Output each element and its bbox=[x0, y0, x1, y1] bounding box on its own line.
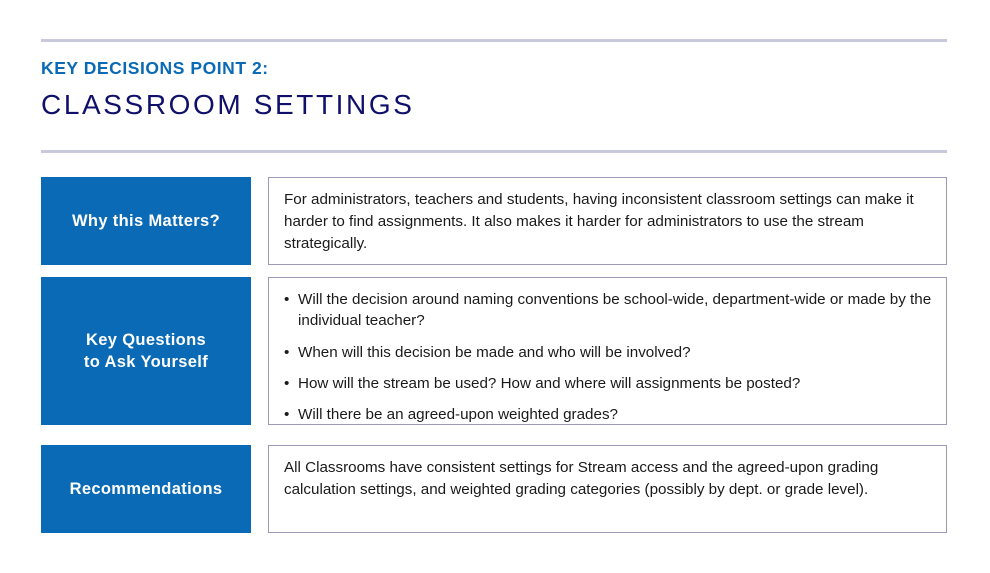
row-label-box: Why this Matters? bbox=[41, 177, 251, 265]
row-label-box: Recommendations bbox=[41, 445, 251, 533]
slide-page: KEY DECISIONS POINT 2: CLASSROOM SETTING… bbox=[0, 0, 990, 573]
header-divider-rule bbox=[41, 150, 947, 153]
row-why-this-matters: Why this Matters? For administrators, te… bbox=[41, 177, 947, 265]
row-label-text: Recommendations bbox=[70, 478, 223, 500]
row-content-box: Will the decision around naming conventi… bbox=[268, 277, 947, 425]
page-header: KEY DECISIONS POINT 2: CLASSROOM SETTING… bbox=[41, 58, 947, 122]
list-item: Will the decision around naming conventi… bbox=[284, 289, 932, 332]
row-key-questions: Key Questions to Ask Yourself Will the d… bbox=[41, 277, 947, 425]
top-divider-rule bbox=[41, 39, 947, 42]
row-label-text: Why this Matters? bbox=[72, 210, 220, 232]
row-content-box: For administrators, teachers and student… bbox=[268, 177, 947, 265]
list-item: Will there be an agreed-upon weighted gr… bbox=[284, 404, 932, 425]
eyebrow-label: KEY DECISIONS POINT 2: bbox=[41, 58, 947, 78]
row-paragraph: All Classrooms have consistent settings … bbox=[284, 457, 932, 501]
question-list: Will the decision around naming conventi… bbox=[284, 289, 932, 425]
list-item: When will this decision be made and who … bbox=[284, 342, 932, 363]
page-title: CLASSROOM SETTINGS bbox=[41, 87, 947, 122]
row-paragraph: For administrators, teachers and student… bbox=[284, 189, 932, 255]
row-label-text: Key Questions to Ask Yourself bbox=[84, 329, 208, 374]
row-content-box: All Classrooms have consistent settings … bbox=[268, 445, 947, 533]
row-label-box: Key Questions to Ask Yourself bbox=[41, 277, 251, 425]
list-item: How will the stream be used? How and whe… bbox=[284, 373, 932, 394]
row-recommendations: Recommendations All Classrooms have cons… bbox=[41, 445, 947, 533]
